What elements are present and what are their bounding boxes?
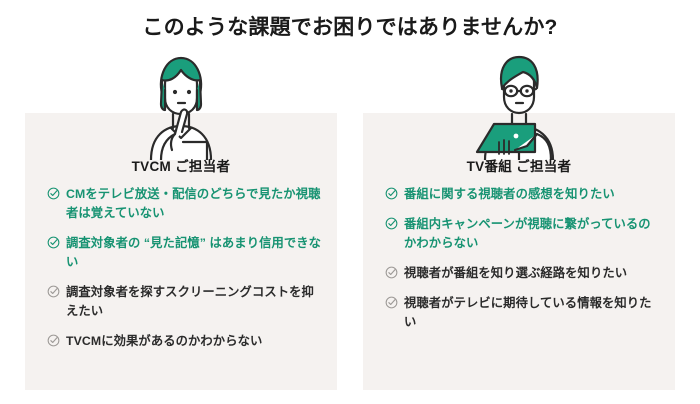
card-title-tv-program: TV番組 ご担当者 xyxy=(363,155,675,175)
woman-thinking-illustration xyxy=(121,50,241,160)
list-item-label: 番組内キャンペーンが視聴に繋がっているのかわからない xyxy=(404,215,661,253)
card-tvcm: TVCM ご担当者 CMをテレビ放送・配信のどちらで見たか視聴者は覚えていない … xyxy=(25,113,337,390)
cards-container: TVCM ご担当者 CMをテレビ放送・配信のどちらで見たか視聴者は覚えていない … xyxy=(25,113,675,390)
list-item-label: 視聴者が番組を知り選ぶ経路を知りたい xyxy=(404,264,627,283)
card-tv-program: TV番組 ご担当者 番組に関する視聴者の感想を知りたい 番組内キャンペーンが視聴… xyxy=(363,113,675,390)
issue-list-tvcm: CMをテレビ放送・配信のどちらで見たか視聴者は覚えていない 調査対象者の “見た… xyxy=(47,185,323,362)
circle-check-icon xyxy=(47,334,60,347)
list-item-label: 調査対象者を探すスクリーニングコストを抑えたい xyxy=(66,283,323,321)
list-item-label: 番組に関する視聴者の感想を知りたい xyxy=(404,185,615,204)
list-item: TVCMに効果があるのかわからない xyxy=(47,332,323,351)
page-title: このような課題でお困りではありませんか? xyxy=(0,11,700,41)
list-item-label: 視聴者がテレビに期待している情報を知りたい xyxy=(404,294,661,332)
list-item: 番組内キャンペーンが視聴に繋がっているのかわからない xyxy=(385,215,661,253)
circle-check-icon xyxy=(47,285,60,298)
circle-check-icon xyxy=(47,187,60,200)
list-item-label: TVCMに効果があるのかわからない xyxy=(66,332,262,351)
list-item: 調査対象者の “見た記憶” はあまり信用できない xyxy=(47,234,323,272)
list-item-label: 調査対象者の “見た記憶” はあまり信用できない xyxy=(66,234,323,272)
card-title-tvcm: TVCM ご担当者 xyxy=(25,155,337,175)
issue-list-tv-program: 番組に関する視聴者の感想を知りたい 番組内キャンペーンが視聴に繋がっているのかわ… xyxy=(385,185,661,343)
circle-check-icon xyxy=(385,266,398,279)
list-item: CMをテレビ放送・配信のどちらで見たか視聴者は覚えていない xyxy=(47,185,323,223)
list-item: 調査対象者を探すスクリーニングコストを抑えたい xyxy=(47,283,323,321)
list-item: 視聴者がテレビに期待している情報を知りたい xyxy=(385,294,661,332)
circle-check-icon xyxy=(385,296,398,309)
circle-check-icon xyxy=(47,236,60,249)
list-item-label: CMをテレビ放送・配信のどちらで見たか視聴者は覚えていない xyxy=(66,185,323,223)
list-item: 視聴者が番組を知り選ぶ経路を知りたい xyxy=(385,264,661,283)
list-item: 番組に関する視聴者の感想を知りたい xyxy=(385,185,661,204)
circle-check-icon xyxy=(385,217,398,230)
man-with-tablet-illustration xyxy=(459,50,579,160)
circle-check-icon xyxy=(385,187,398,200)
